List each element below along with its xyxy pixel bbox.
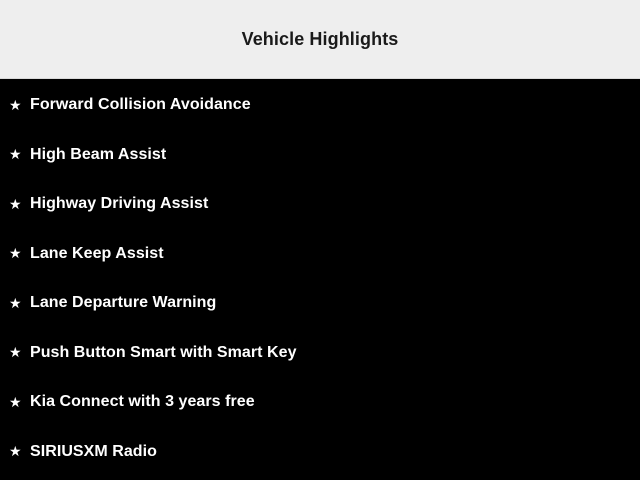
list-item: ★ Push Button Smart with Smart Key — [0, 328, 640, 378]
star-icon: ★ — [9, 296, 30, 310]
star-icon: ★ — [9, 246, 30, 260]
list-item: ★ Lane Keep Assist — [0, 229, 640, 279]
list-item: ★ High Beam Assist — [0, 130, 640, 180]
panel-header: Vehicle Highlights — [0, 0, 640, 79]
list-item: ★ Forward Collision Avoidance — [0, 80, 640, 130]
list-item: ★ Kia Connect with 3 years free — [0, 377, 640, 427]
star-icon: ★ — [9, 147, 30, 161]
highlight-label: Kia Connect with 3 years free — [30, 392, 255, 411]
highlight-label: Lane Keep Assist — [30, 244, 164, 263]
vehicle-highlights-panel: Vehicle Highlights ★ Forward Collision A… — [0, 0, 640, 480]
vehicle-highlights-list: ★ Forward Collision Avoidance ★ High Bea… — [0, 80, 640, 480]
star-icon: ★ — [9, 444, 30, 458]
list-item: ★ Lane Departure Warning — [0, 278, 640, 328]
star-icon: ★ — [9, 345, 30, 359]
highlight-label: High Beam Assist — [30, 145, 166, 164]
star-icon: ★ — [9, 197, 30, 211]
highlight-label: SIRIUSXM Radio — [30, 442, 157, 461]
highlight-label: Forward Collision Avoidance — [30, 95, 251, 114]
highlight-label: Push Button Smart with Smart Key — [30, 343, 297, 362]
star-icon: ★ — [9, 98, 30, 112]
star-icon: ★ — [9, 395, 30, 409]
list-item: ★ Highway Driving Assist — [0, 179, 640, 229]
list-item: ★ SIRIUSXM Radio — [0, 427, 640, 477]
page-title: Vehicle Highlights — [242, 29, 399, 50]
highlight-label: Lane Departure Warning — [30, 293, 216, 312]
highlight-label: Highway Driving Assist — [30, 194, 208, 213]
